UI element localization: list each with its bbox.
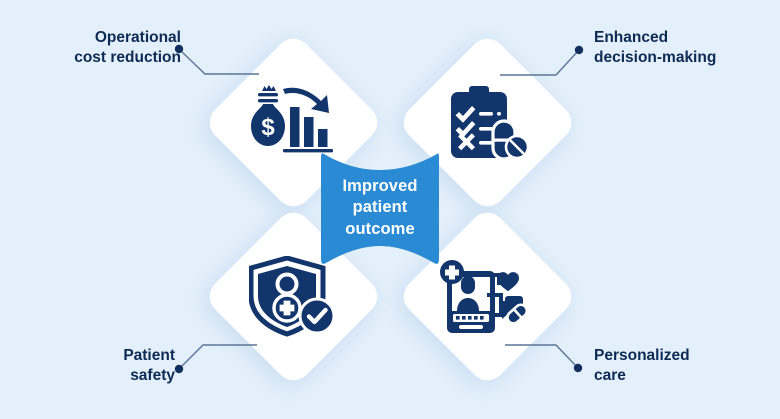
label-enhanced-decision-making: Enhanced decision-making [594,28,744,68]
label-operational-cost-reduction: Operational cost reduction [66,28,181,68]
connector-operational-cost-reduction [175,45,259,74]
infographic-canvas: $ [0,0,780,419]
connector-patient-safety [175,345,257,373]
connector-personalized-care [505,345,582,372]
connector-enhanced-decision-making [500,46,583,75]
label-personalized-care: Personalized care [594,346,744,386]
label-patient-safety: Patient safety [60,346,175,386]
